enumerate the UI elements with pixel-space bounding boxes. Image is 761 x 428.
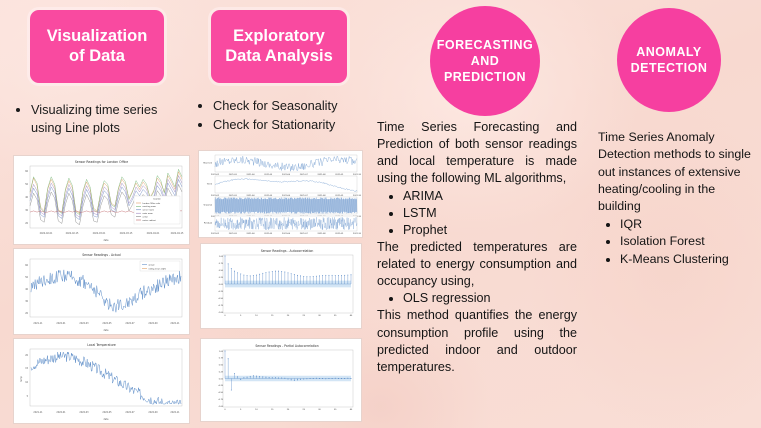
svg-text:2022-02-15: 2022-02-15: [66, 232, 79, 235]
svg-text:2022-05: 2022-05: [102, 411, 112, 414]
chart-title: Sensor Readings for London Office: [75, 160, 128, 164]
svg-text:Observed: Observed: [203, 162, 213, 165]
svg-text:2021-07: 2021-07: [300, 195, 309, 197]
svg-text:server room: server room: [143, 209, 155, 212]
svg-text:-0.25: -0.25: [218, 291, 224, 293]
svg-text:2022-09: 2022-09: [148, 411, 158, 414]
chart-title: Sensor Readings - Autocorrelation: [261, 249, 314, 253]
forecasting-text-block: Time Series Forecasting and Prediction o…: [377, 119, 577, 376]
chart-title: Sensor Readings - Actual: [82, 253, 121, 257]
header-line: Visualization: [47, 27, 148, 46]
svg-text:2022-07: 2022-07: [125, 322, 135, 325]
y-axis-ticks: 1.000.750.500.250.00-0.25-0.50-0.75-1.00: [218, 256, 224, 314]
chart-sensor-readings-partial-autocorrelation: Sensor Readings - Partial Autocorrelatio…: [200, 338, 362, 422]
chart-local-temperature: Local Temperature 20 15 10 5 temp 2021-1…: [13, 338, 190, 424]
svg-text:2021-10: 2021-10: [353, 233, 362, 235]
chart-svg: Observed2021-022021-032021-042021-052021…: [199, 151, 362, 237]
svg-text:2021-09: 2021-09: [335, 195, 344, 197]
list-item: Check for Stationarity: [213, 116, 371, 134]
chart-title: Sensor Readings - Partial Autocorrelatio…: [255, 344, 318, 348]
svg-text:2021-03: 2021-03: [229, 233, 238, 235]
svg-text:2022-01: 2022-01: [56, 411, 66, 414]
chart-legend: locationLondon Office cafemeeting roomse…: [134, 196, 180, 224]
svg-text:2021-11: 2021-11: [33, 322, 43, 325]
header-line: Exploratory: [225, 27, 333, 46]
svg-text:2021-04: 2021-04: [247, 195, 256, 197]
svg-text:main room: main room: [143, 212, 153, 215]
svg-text:-0.25: -0.25: [218, 385, 224, 387]
svg-text:2022-03: 2022-03: [79, 411, 89, 414]
svg-text:rolling mean (24h): rolling mean (24h): [149, 267, 167, 270]
paragraph: This method quantifies the energy consum…: [377, 307, 577, 376]
svg-text:-0.75: -0.75: [218, 399, 224, 401]
svg-text:2022-03-15: 2022-03-15: [120, 232, 133, 235]
svg-text:cellar: cellar: [143, 215, 148, 218]
svg-text:2021-10: 2021-10: [353, 174, 362, 176]
svg-text:2021-02: 2021-02: [211, 233, 220, 235]
svg-text:-1.00: -1.00: [218, 312, 224, 314]
header-exploratory-data-analysis: Exploratory Data Analysis: [211, 10, 347, 83]
list-item: OLS regression: [403, 290, 577, 307]
chart-legend: actual rolling mean (24h): [140, 261, 180, 271]
svg-text:2021-04: 2021-04: [247, 233, 256, 235]
svg-text:-1.00: -1.00: [218, 406, 224, 408]
svg-text:2021-06: 2021-06: [282, 174, 291, 176]
list-item: Check for Seasonality: [213, 97, 371, 115]
svg-text:2021-06: 2021-06: [282, 195, 291, 197]
svg-text:London Office cafe: London Office cafe: [143, 203, 162, 205]
list-item: Visualizing time series using Line plots: [31, 101, 189, 137]
svg-text:Seasonal: Seasonal: [203, 205, 212, 207]
svg-text:2021-03: 2021-03: [229, 174, 238, 176]
chart-svg: Sensor Readings - Actual 60 50 40 30 20 …: [14, 249, 189, 334]
svg-text:meeting room: meeting room: [143, 205, 156, 208]
list-item: Isolation Forest: [620, 233, 758, 250]
chart-sensor-readings-actual: Sensor Readings - Actual 60 50 40 30 20 …: [13, 248, 190, 335]
forecasting-algorithm-list: ARIMA LSTM Prophet: [377, 188, 577, 239]
svg-text:2022-05: 2022-05: [102, 322, 112, 325]
svg-text:Trend: Trend: [207, 183, 213, 186]
svg-text:2022-01: 2022-01: [56, 322, 66, 325]
svg-text:2022-09: 2022-09: [148, 322, 158, 325]
chart-svg: Sensor Readings for London Office 60 50 …: [14, 156, 189, 244]
header-visualization-of-data: Visualization of Data: [30, 10, 164, 83]
visualization-bullet-list: Visualizing time series using Line plots: [14, 101, 189, 138]
list-item: K-Means Clustering: [620, 251, 758, 268]
header-line: FORECASTING: [437, 37, 533, 53]
header-anomaly-detection: ANOMALY DETECTION: [617, 8, 721, 112]
svg-text:2021-11: 2021-11: [33, 411, 43, 414]
svg-text:-0.50: -0.50: [218, 392, 224, 394]
svg-text:2022-11: 2022-11: [170, 411, 180, 414]
list-item: IQR: [620, 216, 758, 233]
forecasting-regression-list: OLS regression: [377, 290, 577, 307]
header-line: Data Analysis: [225, 47, 333, 66]
svg-text:2022-04-15: 2022-04-15: [171, 232, 184, 235]
svg-text:2022-03: 2022-03: [79, 322, 89, 325]
svg-text:2021-02: 2021-02: [211, 195, 220, 197]
chart-svg: Local Temperature 20 15 10 5 temp 2021-1…: [14, 339, 189, 423]
list-item: Prophet: [403, 222, 577, 239]
header-forecasting-and-prediction: FORECASTING AND PREDICTION: [430, 6, 540, 116]
svg-text:2021-10: 2021-10: [353, 195, 362, 197]
svg-text:2021-07: 2021-07: [300, 174, 309, 176]
svg-text:2022-02-01: 2022-02-01: [40, 232, 53, 235]
svg-text:2021-05: 2021-05: [264, 174, 273, 176]
x-axis-label: date: [104, 239, 110, 242]
infographic-canvas: Visualization of Data Exploratory Data A…: [0, 0, 761, 428]
svg-text:2021-08: 2021-08: [318, 233, 327, 235]
header-line: of Data: [47, 47, 148, 66]
svg-text:location: location: [153, 198, 161, 201]
svg-text:2021-03: 2021-03: [229, 195, 238, 197]
anomaly-text-block: Time Series Anomaly Detection methods to…: [598, 129, 758, 268]
svg-text:Residual: Residual: [204, 223, 212, 225]
chart-sensor-readings-autocorrelation: Sensor Readings - Autocorrelation 1.000.…: [200, 243, 362, 329]
svg-text:2022-11: 2022-11: [170, 322, 180, 325]
anomaly-method-list: IQR Isolation Forest K-Means Clustering: [598, 216, 758, 268]
list-item: LSTM: [403, 205, 577, 222]
svg-text:2021-05: 2021-05: [264, 195, 273, 197]
paragraph: Time Series Anomaly Detection methods to…: [598, 129, 758, 216]
svg-text:2021-09: 2021-09: [335, 174, 344, 176]
svg-text:2022-07: 2022-07: [125, 411, 135, 414]
chart-svg: Sensor Readings - Partial Autocorrelatio…: [201, 339, 361, 421]
header-line: ANOMALY: [631, 44, 708, 60]
svg-text:2021-08: 2021-08: [318, 195, 327, 197]
x-axis-label: date: [104, 418, 110, 421]
chart-seasonal-decomposition: Observed2021-022021-032021-042021-052021…: [198, 150, 363, 238]
header-line: AND: [437, 53, 533, 69]
paragraph: Time Series Forecasting and Prediction o…: [377, 119, 577, 188]
svg-text:2021-08: 2021-08: [318, 174, 327, 176]
header-line: DETECTION: [631, 60, 708, 76]
svg-text:2021-05: 2021-05: [264, 233, 273, 235]
svg-text:2021-07: 2021-07: [300, 233, 309, 235]
paragraph: The predicted temperatures are related t…: [377, 239, 577, 290]
svg-text:2022-03-01: 2022-03-01: [93, 232, 106, 235]
header-line: PREDICTION: [437, 69, 533, 85]
svg-text:2021-04: 2021-04: [247, 174, 256, 176]
svg-text:-0.75: -0.75: [218, 305, 224, 307]
y-axis-ticks: 1.000.750.500.250.00-0.25-0.50-0.75-1.00: [218, 351, 224, 408]
svg-text:2021-02: 2021-02: [211, 174, 220, 176]
svg-text:meter cabinet: meter cabinet: [143, 219, 157, 222]
svg-text:actual: actual: [149, 263, 155, 266]
svg-text:2022-04-01: 2022-04-01: [147, 232, 160, 235]
x-axis-label: date: [104, 329, 110, 332]
eda-bullet-list: Check for Seasonality Check for Stationa…: [196, 97, 371, 135]
svg-text:2021-06: 2021-06: [282, 233, 291, 235]
list-item: ARIMA: [403, 188, 577, 205]
chart-title: Local Temperature: [87, 343, 116, 347]
chart-sensor-readings-london-office: Sensor Readings for London Office 60 50 …: [13, 155, 190, 245]
y-axis-label: temp: [20, 376, 23, 382]
svg-text:-0.50: -0.50: [218, 298, 224, 300]
svg-text:2021-09: 2021-09: [335, 233, 344, 235]
chart-svg: Sensor Readings - Autocorrelation 1.000.…: [201, 244, 361, 328]
